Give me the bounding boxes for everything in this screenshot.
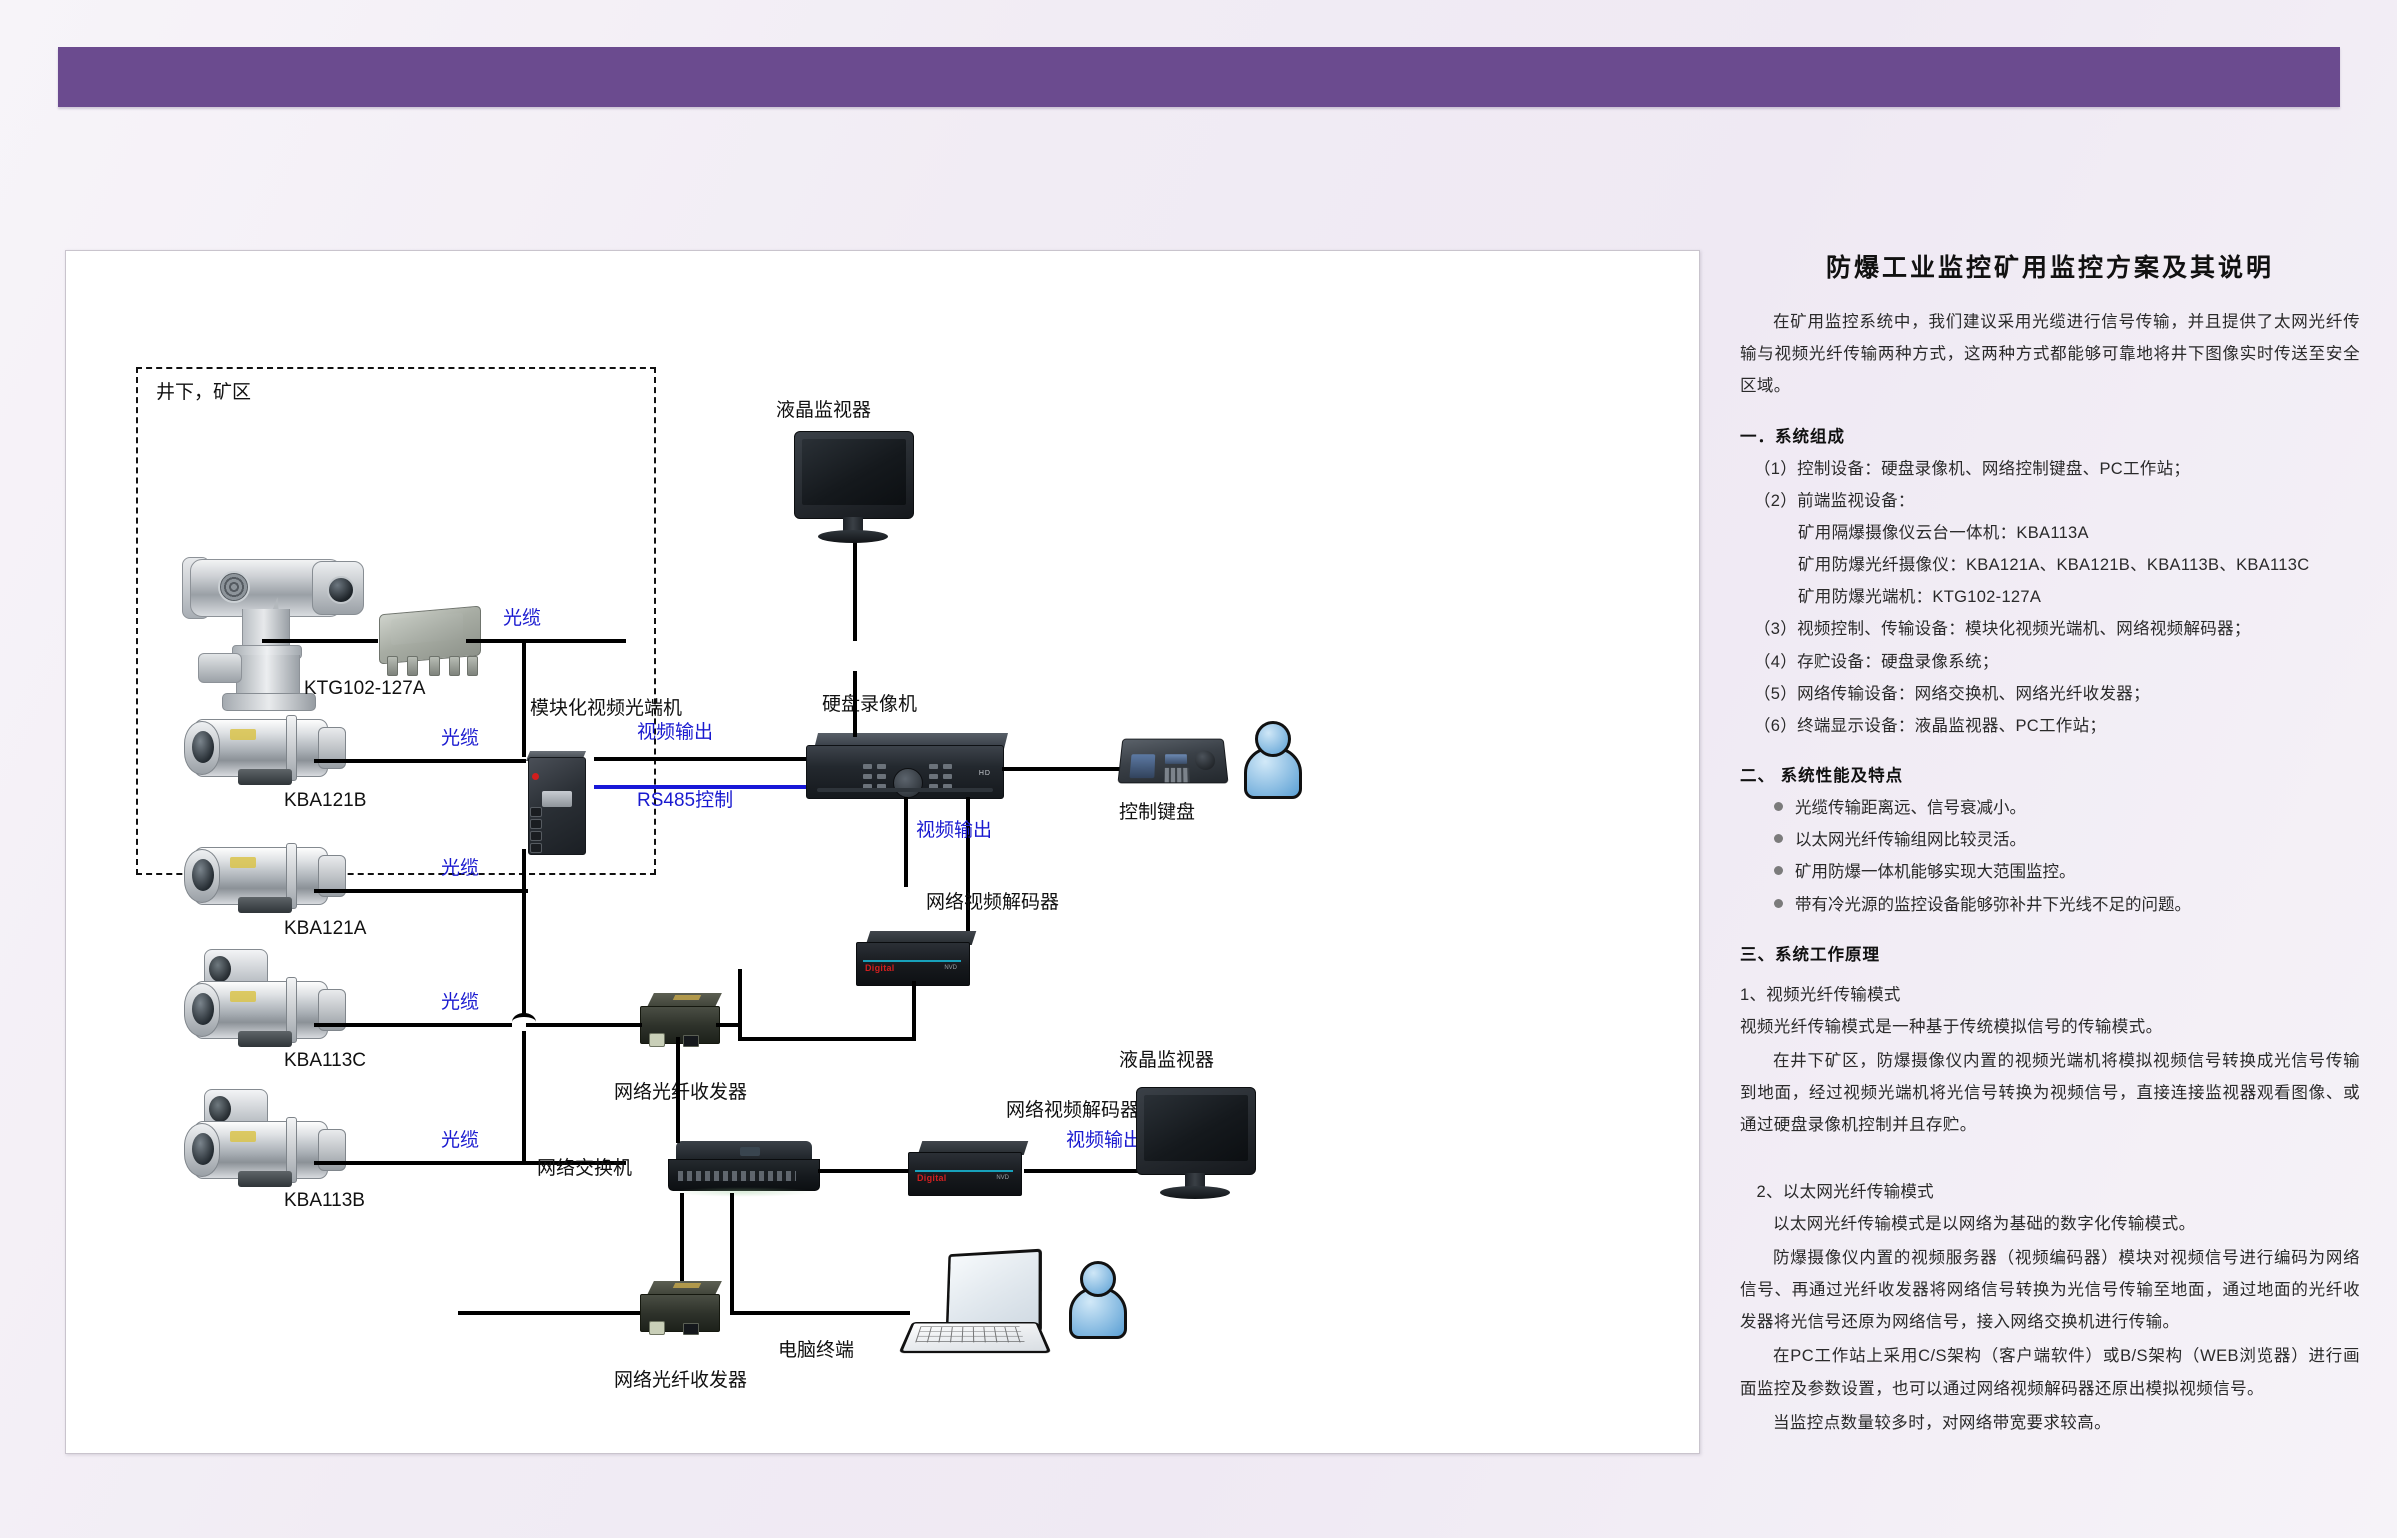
camera-mount-bracket [238, 769, 292, 785]
dvr-hard-disk-recorder: HD [806, 733, 1012, 805]
label-video-output-3: 视频输出 [1066, 1131, 1142, 1152]
label-rs485: RS485控制 [637, 791, 733, 812]
wire-hop-marker [512, 1013, 536, 1031]
wire-pc-link [730, 1311, 910, 1315]
label-media-converter-lower: 网络光纤收发器 [614, 1371, 747, 1392]
decoder-model-tag: NVD [996, 1175, 1009, 1181]
wire-kba121a [314, 889, 528, 893]
feature-bullet-1: 光缆传输距离远、信号衰减小。 [1774, 792, 2360, 824]
label-fiber-cable-5: 光缆 [441, 1131, 479, 1152]
decoder-accent-stripe [863, 960, 961, 962]
section-heading-principle: 三、系统工作原理 [1740, 941, 2360, 965]
composition-subitem-3: 矿用防爆光端机：KTG102-127A [1798, 581, 2360, 613]
label-fiber-cable-2: 光缆 [441, 729, 479, 750]
keyboard-secondary-display [1165, 754, 1187, 764]
ir-lens-icon [209, 1096, 231, 1122]
label-media-converter-upper: 网络光纤收发器 [614, 1083, 747, 1104]
wire-converter-upper-out [716, 1023, 742, 1027]
composition-subitem-1: 矿用隔爆摄像仪云台一体机：KBA113A [1798, 517, 2360, 549]
decoder-front-panel: Digital NVD [856, 942, 970, 986]
label-pc-terminal: 电脑终端 [778, 1341, 854, 1362]
feature-bullet-3: 矿用防爆一体机能够实现大范围监控。 [1774, 856, 2360, 888]
wire-ptz-to-jbox [262, 639, 378, 643]
wire-switch-uplink [738, 969, 742, 1041]
label-kba113c: KBA113C [284, 1051, 366, 1072]
dvr-drive-slot [817, 788, 993, 792]
wire-jbox-to-trunk [466, 639, 626, 643]
bullet-dot-icon [1774, 866, 1783, 875]
operator-avatar-1 [1241, 721, 1299, 795]
feature-text-3: 矿用防爆一体机能够实现大范围监控。 [1795, 856, 2076, 888]
feature-bullet-4: 带有冷光源的监控设备能够弥补井下光线不足的问题。 [1774, 889, 2360, 921]
wire-dvr-down-trunk [904, 797, 908, 887]
label-kba113b: KBA113B [284, 1191, 365, 1212]
cable-gland-icon [467, 656, 478, 676]
fiber-port-icon [530, 831, 542, 841]
composition-subitem-2: 矿用防爆光纤摄像仪：KBA121A、KBA121B、KBA113B、KBA113… [1798, 549, 2360, 581]
camera-mount-bracket [238, 1171, 292, 1187]
feature-text-2: 以太网光纤传输组网比较灵活。 [1795, 824, 2026, 856]
mode2-paragraph-2: 防爆摄像仪内置的视频服务器（视频编码器）模块对视频信号进行编码为网络信号、再通过… [1740, 1242, 2360, 1339]
page-title: 防爆工业监控矿用监控方案及其说明 [1740, 248, 2360, 284]
jog-dial-icon [893, 768, 923, 798]
network-video-decoder-lower: Digital NVD [908, 1141, 1030, 1201]
camera-lens-icon [192, 993, 214, 1025]
label-ktg102-127a: KTG102-127A [304, 679, 425, 700]
camera-side-port [198, 653, 242, 683]
camera-kba113c [178, 973, 356, 1051]
top-banner [58, 47, 2340, 107]
label-fiber-cable-3: 光缆 [441, 859, 479, 880]
wire-dvr-to-monitor [853, 671, 857, 737]
section-heading-composition: 一．系统组成 [1740, 423, 2360, 447]
wire-kba121b [314, 759, 526, 763]
wire-kba113c [314, 1023, 526, 1027]
decoder-brand-mark: Digital [917, 1173, 947, 1183]
fiber-port-icon [530, 819, 542, 829]
cable-gland-icon [407, 656, 418, 676]
cable-gland-icon [429, 656, 440, 676]
underground-zone-label: 井下，矿区 [156, 377, 251, 404]
composition-item-4: （4）存贮设备：硬盘录像系统； [1754, 646, 2360, 678]
label-kba121b: KBA121B [284, 791, 366, 812]
wire-switch-port-a [676, 1037, 680, 1143]
feature-text-1: 光缆传输距离远、信号衰减小。 [1795, 792, 2026, 824]
camera-kba121b [178, 711, 356, 789]
camera-rating-label [230, 729, 256, 740]
system-diagram-panel: 井下，矿区 KBA113A KTG102-127A 光缆 [65, 250, 1700, 1454]
monitor-stand [1160, 1186, 1230, 1199]
label-kba121a: KBA121A [284, 919, 366, 940]
label-video-output-1: 视频输出 [637, 723, 713, 744]
cable-gland-icon [449, 656, 460, 676]
dvr-front-panel: HD [806, 745, 1004, 799]
label-optical-transceiver: 模块化视频光端机 [530, 699, 682, 720]
explanation-column: 防爆工业监控矿用监控方案及其说明 在矿用监控系统中，我们建议采用光缆进行信号传输… [1740, 248, 2360, 1441]
pc-terminal-laptop [906, 1251, 1044, 1361]
control-keyboard [1120, 729, 1226, 785]
switch-logo [740, 1147, 760, 1156]
converter-label-strip [673, 995, 701, 1000]
laptop-screen [946, 1249, 1042, 1333]
composition-item-2: （2）前端监视设备： [1754, 485, 2360, 517]
lcd-monitor-right [1136, 1087, 1260, 1203]
junction-box-ktg102-127a [371, 606, 487, 680]
composition-item-1: （1）控制设备：硬盘录像机、网络控制键盘、PC工作站； [1754, 453, 2360, 485]
feature-bullet-2: 以太网光纤传输组网比较灵活。 [1774, 824, 2360, 856]
camera-kba121a [178, 839, 356, 917]
camera-rating-label [230, 991, 256, 1002]
wire-transceiver-trunk-down [522, 849, 526, 1163]
power-led-icon [532, 773, 539, 780]
laptop-keyboard [915, 1326, 1025, 1342]
wire-fiber-to-converter-upper [526, 1023, 642, 1027]
fiber-sc-port-icon [649, 1033, 665, 1047]
label-dvr: 硬盘录像机 [822, 695, 917, 716]
dvr-brand-mark: HD [979, 770, 991, 777]
composition-item-3: （3）视频控制、传输设备：模块化视频光端机、网络视频解码器； [1754, 613, 2360, 645]
bullet-dot-icon [1774, 899, 1783, 908]
lcd-monitor-top [794, 431, 918, 547]
camera-lens-icon [192, 859, 214, 891]
monitor-bezel [794, 431, 914, 519]
camera-mount-bracket [238, 897, 292, 913]
ir-lens-icon [209, 956, 231, 982]
mode1-heading: 1、视频光纤传输模式 [1740, 979, 2360, 1011]
camera-lens-icon [327, 576, 355, 604]
wire-rs485-to-dvr [594, 785, 806, 789]
camera-rating-label [230, 1131, 256, 1142]
rj45-port-icon [683, 1035, 699, 1047]
mode1-paragraph-1: 视频光纤传输模式是一种基于传统模拟信号的传输模式。 [1740, 1011, 2360, 1043]
switch-port-array [678, 1171, 796, 1181]
switch-top-face [676, 1141, 812, 1161]
label-lcd-monitor-top: 液晶监视器 [776, 401, 871, 422]
section-heading-features: 二、 系统性能及特点 [1740, 762, 2360, 786]
rj45-port-icon [683, 1323, 699, 1335]
ir-illuminator-icon [218, 571, 250, 603]
camera-kba113b [178, 1113, 356, 1191]
label-lcd-monitor-right: 液晶监视器 [1119, 1051, 1214, 1072]
converter-front-panel [640, 1006, 720, 1044]
decoder-brand-mark: Digital [865, 963, 895, 973]
avatar-head [1255, 721, 1291, 757]
monitor-bezel [1136, 1087, 1256, 1175]
mode2-paragraph-3: 在PC工作站上采用C/S架构（客户端软件）或B/S架构（WEB浏览器）进行画面监… [1740, 1340, 2360, 1404]
composition-item-5: （5）网络传输设备：网络交换机、网络光纤收发器； [1754, 678, 2360, 710]
label-network-switch: 网络交换机 [537, 1159, 632, 1180]
composition-item-6: （6）终端显示设备：液晶监视器、PC工作站； [1754, 710, 2360, 742]
camera-foot-flange [222, 693, 316, 711]
joystick-icon [1195, 750, 1216, 769]
feature-text-4: 带有冷光源的监控设备能够弥补井下光线不足的问题。 [1795, 889, 2191, 921]
keyboard-keys [1165, 768, 1190, 782]
label-control-keyboard: 控制键盘 [1119, 803, 1195, 824]
wire-video-output-to-dvr [594, 757, 806, 761]
wire-trunk-1-down [522, 639, 526, 757]
cable-gland-icon [387, 656, 398, 676]
network-video-decoder-upper: Digital NVD [856, 931, 978, 991]
converter-label-strip [673, 1283, 701, 1288]
wire-monitor-stem [853, 541, 857, 641]
switch-shadow [672, 1187, 814, 1197]
fiber-sc-port-icon [649, 1321, 665, 1335]
mode2-heading: 2、以太网光纤传输模式 [1740, 1176, 2360, 1208]
label-decoder-upper: 网络视频解码器 [926, 893, 1059, 914]
decoder-model-tag: NVD [944, 965, 957, 971]
fiber-media-converter-lower [636, 1281, 728, 1339]
converter-front-panel [640, 1294, 720, 1332]
camera-lens-housing [312, 561, 364, 615]
bullet-dot-icon [1774, 834, 1783, 843]
wire-decoder-lower-to-monitor [1024, 1169, 1140, 1173]
monitor-screen [802, 439, 906, 505]
camera-lens-icon [192, 731, 214, 763]
wire-decoder-upper-to-switch [912, 981, 916, 1041]
device-nameplate [542, 791, 572, 807]
fiber-port-icon [530, 843, 542, 853]
avatar-head [1080, 1261, 1116, 1297]
fiber-port-icon [530, 807, 542, 817]
decoder-accent-stripe [915, 1170, 1013, 1172]
decoder-front-panel: Digital NVD [908, 1152, 1022, 1196]
intro-paragraph: 在矿用监控系统中，我们建议采用光缆进行信号传输，并且提供了太网光纤传输与视频光纤… [1740, 306, 2360, 403]
network-switch [662, 1141, 824, 1203]
mode1-paragraph-2: 在井下矿区，防爆摄像仪内置的视频光端机将模拟视频信号转换成光信号传输到地面，经过… [1740, 1045, 2360, 1142]
label-fiber-cable-1: 光缆 [503, 609, 541, 630]
fiber-media-converter-upper [636, 993, 728, 1051]
bullet-dot-icon [1774, 802, 1783, 811]
label-decoder-lower: 网络视频解码器 [1006, 1101, 1139, 1122]
monitor-stand [818, 530, 888, 543]
camera-mount-bracket [238, 1031, 292, 1047]
camera-rating-label [230, 857, 256, 868]
operator-avatar-2 [1066, 1261, 1124, 1335]
wire-switch-top-feed [738, 1037, 916, 1041]
mode2-paragraph-1: 以太网光纤传输模式是以网络为基础的数字化传输模式。 [1740, 1208, 2360, 1240]
label-video-output-2: 视频输出 [916, 821, 992, 842]
wire-dvr-to-keyboard [1002, 767, 1122, 771]
label-fiber-cable-4: 光缆 [441, 993, 479, 1014]
modular-video-optical-transceiver [518, 751, 592, 859]
monitor-screen [1144, 1095, 1248, 1161]
camera-lens-icon [192, 1133, 214, 1165]
mode2-paragraph-4: 当监控点数量较多时，对网络带宽要求较高。 [1740, 1407, 2360, 1439]
wire-switch-to-pc [730, 1193, 734, 1315]
keyboard-body [1117, 739, 1228, 784]
keyboard-display [1129, 754, 1155, 778]
